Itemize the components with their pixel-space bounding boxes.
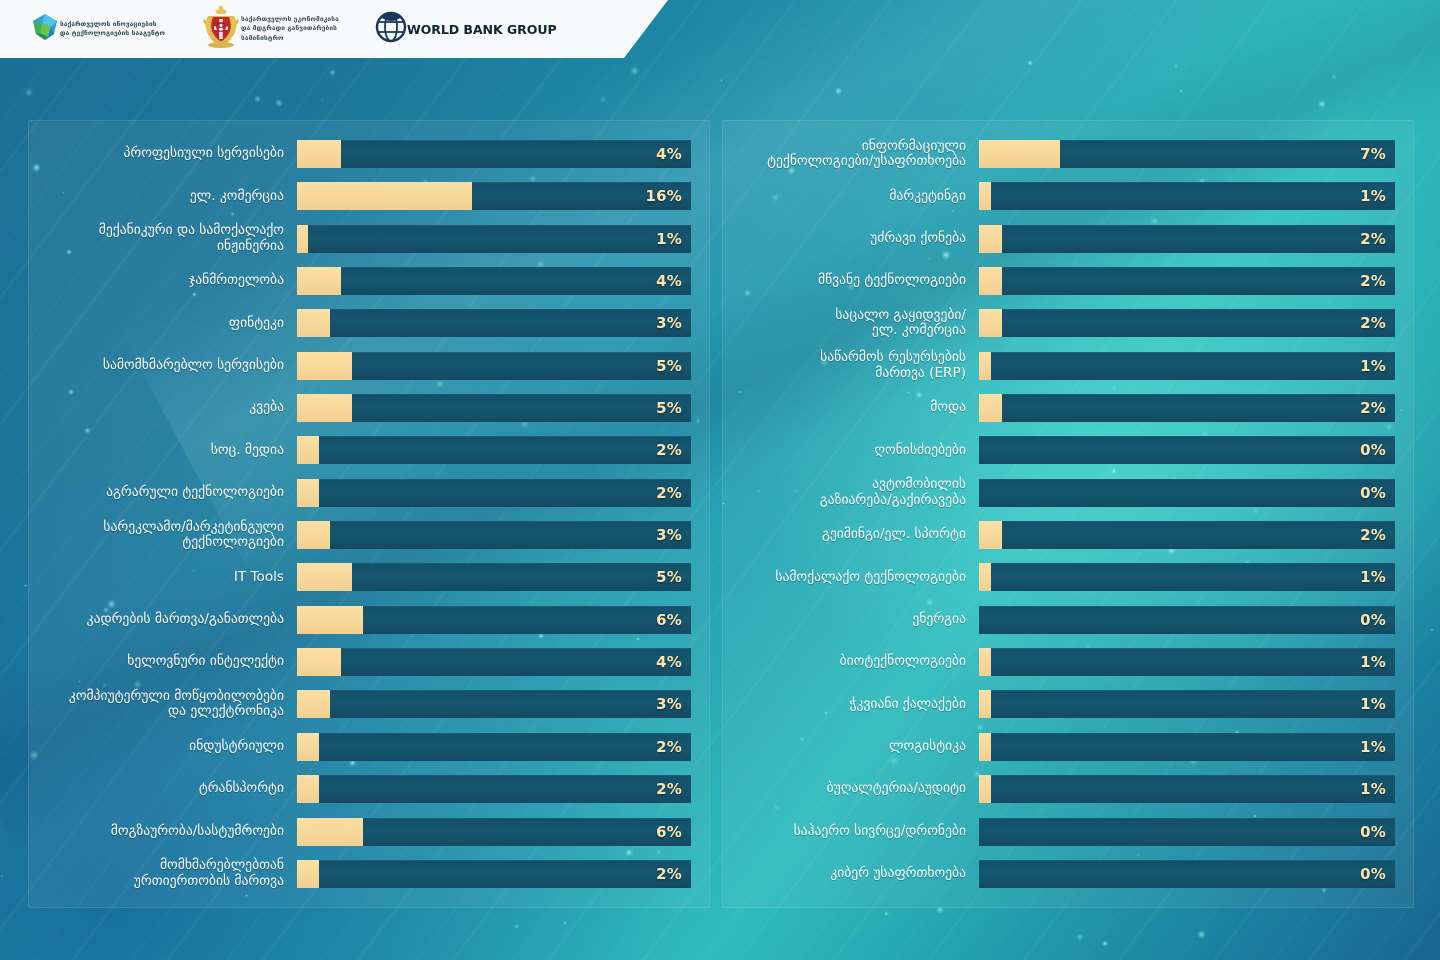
bar-fill: [297, 563, 352, 591]
bar-value-label: 1%: [1360, 648, 1386, 676]
bar-track: 4%: [297, 648, 691, 676]
bar-track: 2%: [979, 267, 1395, 295]
bar-value-label: 2%: [656, 733, 682, 761]
bar-row-label: სარეკლამო/მარკეტინგული ტექნოლოგიები: [29, 520, 297, 551]
bar-track: 2%: [297, 733, 691, 761]
bar-value-label: 16%: [645, 182, 682, 210]
bar-track: 1%: [979, 182, 1395, 210]
bar-fill: [297, 140, 341, 168]
bar-row: ფინტეკი3%: [29, 308, 691, 338]
bar-value-label: 7%: [1360, 140, 1386, 168]
bar-track: 0%: [979, 818, 1395, 846]
bar-value-label: 1%: [1360, 690, 1386, 718]
bar-row-label: პროფესიული სერვისები: [29, 146, 297, 162]
moesd-logo-text: საქართველოს ეკონომიკისა და მდგრადი განვი…: [241, 15, 339, 43]
bar-track: 0%: [979, 860, 1395, 888]
glow-dot: [1174, 64, 1178, 68]
bar-row-label: მოგზაურობა/სასტუმროები: [29, 824, 297, 840]
bar-track: 2%: [297, 479, 691, 507]
bar-row: ინფორმაციული ტექნოლოგიები/უსაფრთხოება7%: [723, 139, 1395, 169]
bar-value-label: 2%: [1360, 394, 1386, 422]
bar-row: სამოქალაქო ტექნოლოგიები1%: [723, 562, 1395, 592]
bar-fill: [979, 563, 991, 591]
bar-value-label: 0%: [1360, 860, 1386, 888]
bar-value-label: 4%: [656, 140, 682, 168]
bar-track: 3%: [297, 690, 691, 718]
bar-fill: [297, 690, 330, 718]
bar-track: 1%: [979, 733, 1395, 761]
bar-row: ბიოტექნოლოგიები1%: [723, 647, 1395, 677]
bar-row-label: ლოგისტიკა: [723, 739, 979, 755]
glow-dot: [835, 87, 843, 95]
bar-row: საცალო გაყიდვები/ ელ. კომერცია2%: [723, 308, 1395, 338]
glow-dot: [321, 99, 324, 102]
bar-track: 3%: [297, 309, 691, 337]
bar-value-label: 3%: [656, 309, 682, 337]
bar-track: 1%: [979, 690, 1395, 718]
bar-value-label: 0%: [1360, 606, 1386, 634]
bar-value-label: 6%: [656, 818, 682, 846]
gita-logo: საქართველოს ინოვაციების და ტექნოლოგიების…: [30, 12, 165, 46]
bar-row: გეიმინგი/ელ. სპორტი2%: [723, 520, 1395, 550]
bar-fill: [297, 479, 319, 507]
bar-fill: [979, 521, 1002, 549]
bar-value-label: 3%: [656, 690, 682, 718]
world-bank-logo-text: WORLD BANK GROUP: [407, 23, 557, 36]
glow-dot: [275, 99, 283, 107]
bar-row: კადრების მართვა/განათლება6%: [29, 605, 691, 635]
moesd-logo: საქართველოს ეკონომიკისა და მდგრადი განვი…: [201, 5, 339, 53]
gem-icon: [30, 12, 60, 46]
bar-fill: [297, 267, 341, 295]
bar-track: 4%: [297, 267, 691, 295]
glow-dot: [24, 584, 27, 587]
bar-row: კვება5%: [29, 393, 691, 423]
bar-value-label: 1%: [1360, 563, 1386, 591]
bar-fill: [297, 309, 330, 337]
bar-track: 3%: [297, 521, 691, 549]
glow-dot: [1179, 89, 1183, 93]
glow-dot: [630, 66, 639, 75]
bar-row: ღონისძიებები0%: [723, 435, 1395, 465]
bar-track: 0%: [979, 436, 1395, 464]
bar-row: პროფესიული სერვისები4%: [29, 139, 691, 169]
bar-value-label: 6%: [656, 606, 682, 634]
glow-dot: [1197, 930, 1206, 939]
bar-row-label: ბიოტექნოლოგიები: [723, 654, 979, 670]
bar-row: მექანიკური და სამოქალაქო ინჟინერია1%: [29, 224, 691, 254]
right-bar-list: ინფორმაციული ტექნოლოგიები/უსაფრთხოება7%მ…: [723, 121, 1413, 907]
bar-row: სარეკლამო/მარკეტინგული ტექნოლოგიები3%: [29, 520, 691, 550]
bar-row: კიბერ უსაფრთხოება0%: [723, 859, 1395, 889]
poster-canvas: საქართველოს ინოვაციების და ტექნოლოგიების…: [0, 0, 1440, 960]
bar-value-label: 2%: [1360, 521, 1386, 549]
bar-row-label: საწარმოს რესურსების მართვა (ERP): [723, 350, 979, 381]
bar-row-label: აგრარული ტექნოლოგიები: [29, 485, 297, 501]
bar-value-label: 1%: [1360, 775, 1386, 803]
bar-row: კომპიუტერული მოწყობილობები და ელექტრონიკ…: [29, 689, 691, 719]
bar-row-label: ავტომობილის გაზიარება/გაქირავება: [723, 477, 979, 508]
bar-row: უძრავი ქონება2%: [723, 224, 1395, 254]
bar-fill: [979, 352, 991, 380]
right-chart-panel: ინფორმაციული ტექნოლოგიები/უსაფრთხოება7%მ…: [722, 120, 1414, 908]
bar-fill: [297, 733, 319, 761]
glow-dot: [1, 875, 3, 877]
glow-dot: [563, 921, 567, 925]
bar-row-label: მწვანე ტექნოლოგიები: [723, 273, 979, 289]
glow-dot: [514, 924, 519, 929]
bar-row-label: ღონისძიებები: [723, 443, 979, 459]
bar-value-label: 4%: [656, 267, 682, 295]
glow-dot: [720, 79, 722, 81]
bar-track: 2%: [979, 225, 1395, 253]
bar-value-label: 5%: [656, 563, 682, 591]
bar-row-label: ჭკვიანი ქალაქები: [723, 697, 979, 713]
glow-dot: [1102, 940, 1108, 946]
bar-row-label: ბუღალტერია/აუდიტი: [723, 781, 979, 797]
bar-row-label: მექანიკური და სამოქალაქო ინჟინერია: [29, 223, 297, 254]
bar-value-label: 4%: [656, 648, 682, 676]
bar-value-label: 0%: [1360, 479, 1386, 507]
bar-row-label: კადრების მართვა/განათლება: [29, 612, 297, 628]
bar-row: მწვანე ტექნოლოგიები2%: [723, 266, 1395, 296]
bar-track: 2%: [297, 775, 691, 803]
bar-value-label: 2%: [1360, 225, 1386, 253]
bar-value-label: 1%: [1360, 733, 1386, 761]
bar-row: ენერგია0%: [723, 605, 1395, 635]
bar-row-label: კვება: [29, 400, 297, 416]
gita-logo-text: საქართველოს ინოვაციების და ტექნოლოგიების…: [60, 20, 165, 38]
bar-value-label: 2%: [656, 479, 682, 507]
bar-value-label: 5%: [656, 394, 682, 422]
bar-track: 0%: [979, 479, 1395, 507]
bar-row-label: მოდა: [723, 400, 979, 416]
bar-row: ჯანმრთელობა4%: [29, 266, 691, 296]
bar-fill: [979, 225, 1002, 253]
bar-row-label: საჰაერო სივრცე/დრონები: [723, 824, 979, 840]
bar-row: ავტომობილის გაზიარება/გაქირავება0%: [723, 478, 1395, 508]
bar-track: 2%: [979, 309, 1395, 337]
bar-fill: [297, 436, 319, 464]
bar-row: ხელოვნური ინტელექტი4%: [29, 647, 691, 677]
bar-row-label: მომხმარებლებთან ურთიერთობის მართვა: [29, 858, 297, 889]
bar-row-label: მარკეტინგი: [723, 189, 979, 205]
bar-row-label: ფინტეკი: [29, 316, 297, 332]
world-bank-logo: WORLD BANK GROUP: [375, 11, 557, 47]
glow-dot: [884, 911, 889, 916]
bar-value-label: 2%: [1360, 267, 1386, 295]
bar-fill: [297, 775, 319, 803]
bar-fill: [979, 775, 991, 803]
bar-fill: [979, 690, 991, 718]
bar-row-label: ენერგია: [723, 612, 979, 628]
bar-row-label: ელ. კომერცია: [29, 189, 297, 205]
bar-fill: [979, 140, 1060, 168]
glow-dot: [1318, 100, 1326, 108]
glow-dot: [329, 69, 335, 75]
bar-value-label: 2%: [656, 860, 682, 888]
bar-fill: [297, 352, 352, 380]
bar-row: ინდუსტრიული2%: [29, 732, 691, 762]
bar-row-label: IT Tools: [29, 570, 297, 586]
bar-row-label: ტრანსპორტი: [29, 781, 297, 797]
bar-row-label: უძრავი ქონება: [723, 231, 979, 247]
bar-fill: [979, 648, 991, 676]
bar-fill: [297, 182, 472, 210]
bar-row: მომხმარებლებთან ურთიერთობის მართვა2%: [29, 859, 691, 889]
bar-value-label: 0%: [1360, 436, 1386, 464]
bar-value-label: 1%: [1360, 352, 1386, 380]
bar-fill: [297, 648, 341, 676]
bar-row-label: ინფორმაციული ტექნოლოგიები/უსაფრთხოება: [723, 139, 979, 170]
bar-row: IT Tools5%: [29, 562, 691, 592]
bar-track: 0%: [979, 606, 1395, 634]
glow-dot: [254, 95, 262, 103]
bar-value-label: 1%: [656, 225, 682, 253]
logo-row: საქართველოს ინოვაციების და ტექნოლოგიების…: [0, 5, 557, 53]
bar-track: 1%: [979, 352, 1395, 380]
bar-track: 2%: [979, 394, 1395, 422]
bar-fill: [297, 225, 308, 253]
bar-row-label: გეიმინგი/ელ. სპორტი: [723, 527, 979, 543]
bar-track: 1%: [979, 563, 1395, 591]
bar-value-label: 2%: [1360, 309, 1386, 337]
bar-fill: [979, 182, 991, 210]
bar-row-label: სოც. მედია: [29, 443, 297, 459]
bar-value-label: 1%: [1360, 182, 1386, 210]
bar-track: 5%: [297, 352, 691, 380]
bar-fill: [297, 394, 352, 422]
bar-track: 4%: [297, 140, 691, 168]
bar-row: მარკეტინგი1%: [723, 181, 1395, 211]
header-banner: საქართველოს ინოვაციების და ტექნოლოგიების…: [0, 0, 668, 58]
bar-track: 2%: [979, 521, 1395, 549]
bar-value-label: 2%: [656, 436, 682, 464]
bar-row: სამომხმარებლო სერვისები5%: [29, 351, 691, 381]
bar-row-label: ჯანმრთელობა: [29, 273, 297, 289]
bar-track: 16%: [297, 182, 691, 210]
bar-value-label: 2%: [656, 775, 682, 803]
glow-dot: [599, 95, 608, 104]
bar-row: აგრარული ტექნოლოგიები2%: [29, 478, 691, 508]
bar-value-label: 0%: [1360, 818, 1386, 846]
bar-fill: [979, 267, 1002, 295]
bar-fill: [297, 818, 363, 846]
georgia-coat-of-arms-icon: [201, 5, 241, 53]
bar-fill: [979, 733, 991, 761]
glow-dot: [1331, 74, 1337, 80]
bar-row-label: სამოქალაქო ტექნოლოგიები: [723, 570, 979, 586]
bar-fill: [297, 860, 319, 888]
left-chart-panel: პროფესიული სერვისები4%ელ. კომერცია16%მექ…: [28, 120, 710, 908]
bar-row: ელ. კომერცია16%: [29, 181, 691, 211]
bar-track: 5%: [297, 394, 691, 422]
bar-track: 2%: [297, 860, 691, 888]
bar-row: ბუღალტერია/აუდიტი1%: [723, 774, 1395, 804]
bar-row-label: სამომხმარებლო სერვისები: [29, 358, 297, 374]
bar-track: 1%: [979, 648, 1395, 676]
bar-track: 6%: [297, 818, 691, 846]
globe-icon: [375, 11, 407, 47]
bar-track: 5%: [297, 563, 691, 591]
bar-row: საწარმოს რესურსების მართვა (ERP)1%: [723, 351, 1395, 381]
bar-track: 1%: [297, 225, 691, 253]
glow-dot: [1430, 628, 1434, 632]
bar-row-label: ხელოვნური ინტელექტი: [29, 654, 297, 670]
bar-row: ლოგისტიკა1%: [723, 732, 1395, 762]
bar-row: მოგზაურობა/სასტუმროები6%: [29, 817, 691, 847]
bar-track: 7%: [979, 140, 1395, 168]
bar-row-label: კომპიუტერული მოწყობილობები და ელექტრონიკ…: [29, 689, 297, 720]
bar-track: 1%: [979, 775, 1395, 803]
glow-dot: [1076, 933, 1084, 941]
bar-value-label: 3%: [656, 521, 682, 549]
bar-row-label: კიბერ უსაფრთხოება: [723, 866, 979, 882]
glow-dot: [1027, 60, 1033, 66]
bar-row-label: საცალო გაყიდვები/ ელ. კომერცია: [723, 308, 979, 339]
bar-fill: [979, 394, 1002, 422]
glow-dot: [25, 88, 34, 97]
left-bar-list: პროფესიული სერვისები4%ელ. კომერცია16%მექ…: [29, 121, 709, 907]
bar-fill: [979, 309, 1002, 337]
bar-value-label: 5%: [656, 352, 682, 380]
bar-row: მოდა2%: [723, 393, 1395, 423]
bar-fill: [297, 606, 363, 634]
bar-row-label: ინდუსტრიული: [29, 739, 297, 755]
bar-fill: [297, 521, 330, 549]
bar-row: სოც. მედია2%: [29, 435, 691, 465]
bar-track: 6%: [297, 606, 691, 634]
bar-row: ტრანსპორტი2%: [29, 774, 691, 804]
bar-row: ჭკვიანი ქალაქები1%: [723, 689, 1395, 719]
bar-row: საჰაერო სივრცე/დრონები0%: [723, 817, 1395, 847]
bar-track: 2%: [297, 436, 691, 464]
